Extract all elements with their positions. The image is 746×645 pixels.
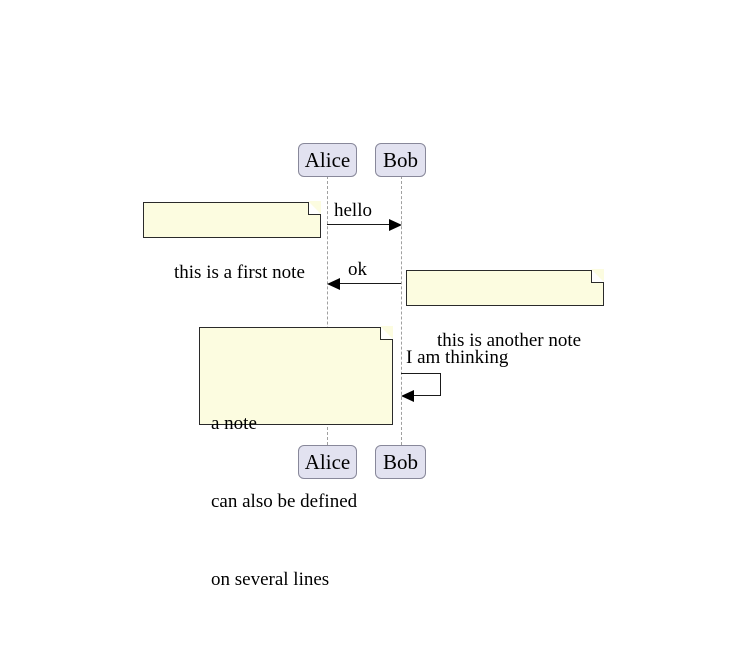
note-first: this is a first note: [143, 202, 321, 238]
note-multiline-line-2: can also be defined: [211, 489, 382, 515]
message-arrow-hello-line: [327, 224, 395, 225]
message-label-ok: ok: [348, 260, 367, 279]
participant-bob-top[interactable]: Bob: [375, 143, 426, 177]
message-label-hello: hello: [334, 201, 372, 220]
participant-alice-top-label: Alice: [305, 150, 350, 171]
note-first-text: this is a first note: [174, 262, 305, 283]
note-another: this is another note: [406, 270, 604, 306]
participant-alice-top[interactable]: Alice: [298, 143, 357, 177]
note-multiline: a note can also be defined on several li…: [199, 327, 393, 425]
message-self-top-line: [401, 373, 441, 374]
note-multiline-line-3: on several lines: [211, 567, 382, 593]
participant-bob-bottom-label: Bob: [383, 452, 418, 473]
message-arrow-hello-head: [389, 219, 402, 231]
note-fold-icon: [591, 270, 604, 283]
message-self-right-line: [440, 373, 441, 395]
message-self-arrow-head: [401, 390, 414, 402]
participant-bob-bottom[interactable]: Bob: [375, 445, 426, 479]
participant-alice-bottom[interactable]: Alice: [298, 445, 357, 479]
sequence-diagram-canvas: Alice Bob hello this is a first note ok …: [0, 0, 746, 620]
participant-alice-bottom-label: Alice: [305, 452, 350, 473]
message-arrow-ok-line: [333, 283, 401, 284]
note-multiline-line-1: a note: [211, 411, 382, 437]
note-fold-icon: [380, 327, 393, 340]
participant-bob-top-label: Bob: [383, 150, 418, 171]
lifeline-bob: [401, 176, 402, 445]
note-fold-icon: [308, 202, 321, 215]
message-arrow-ok-head: [327, 278, 340, 290]
message-label-thinking: I am thinking: [406, 348, 508, 367]
